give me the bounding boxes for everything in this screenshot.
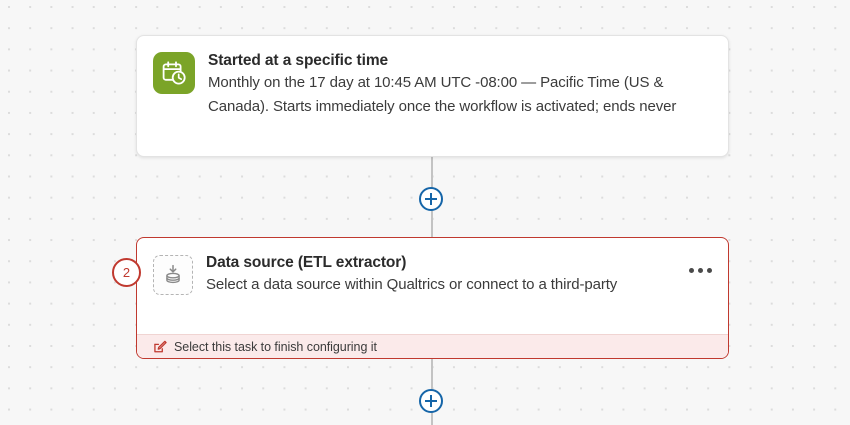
workflow-node-trigger[interactable]: Started at a specific time Monthly on th… (136, 35, 729, 157)
kebab-dot (698, 268, 703, 273)
trigger-card-body: Started at a specific time Monthly on th… (137, 36, 728, 119)
workflow-node-task[interactable]: Data source (ETL extractor) Select a dat… (136, 237, 729, 359)
trigger-text-block: Started at a specific time Monthly on th… (208, 51, 712, 119)
kebab-dot (689, 268, 694, 273)
add-step-button-top[interactable] (419, 187, 443, 211)
kebab-menu-icon[interactable] (689, 268, 712, 273)
task-error-footer: Select this task to finish configuring i… (137, 334, 728, 358)
trigger-title: Started at a specific time (208, 51, 704, 70)
task-title: Data source (ETL extractor) (206, 253, 638, 272)
task-text-block: Data source (ETL extractor) Select a dat… (206, 253, 646, 297)
step-number-badge: 2 (112, 258, 141, 287)
add-step-button-bottom[interactable] (419, 389, 443, 413)
trigger-description: Monthly on the 17 day at 10:45 AM UTC -0… (208, 71, 704, 119)
calendar-clock-icon (153, 52, 195, 94)
kebab-dot (707, 268, 712, 273)
task-description: Select a data source within Qualtrics or… (206, 273, 638, 297)
edit-square-icon (153, 340, 167, 354)
task-card-body: Data source (ETL extractor) Select a dat… (137, 238, 728, 297)
task-error-message: Select this task to finish configuring i… (174, 340, 377, 354)
database-download-icon (153, 255, 193, 295)
